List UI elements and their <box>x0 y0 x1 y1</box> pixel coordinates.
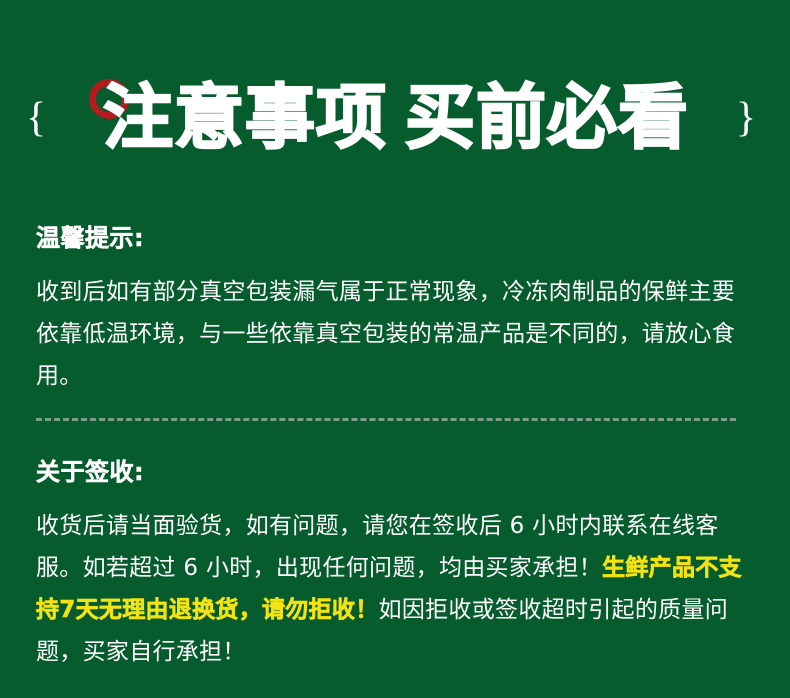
section-body-about-receipt: 收货后请当面验货，如有问题，请您在签收后 6 小时内联系在线客服。如若超过 6 … <box>36 505 752 673</box>
page-title-main: 注意事项 <box>103 76 387 158</box>
right-brace-decoration: } <box>736 97 756 139</box>
left-brace-decoration: { <box>26 97 46 139</box>
section-body-warm-tips: 收到后如有部分真空包装漏气属于正常现象，冷冻肉制品的保鲜主要依靠低温环境，与一些… <box>36 271 752 397</box>
page-title: 注意事项买前必看 <box>103 81 689 155</box>
page-title-sub: 买前必看 <box>405 76 689 158</box>
notice-page: { 注意事项买前必看 } 温馨提示: 收到后如有部分真空包装漏气属于正常现象，冷… <box>0 0 790 698</box>
title-banner: { 注意事项买前必看 } <box>0 62 790 174</box>
section-about-receipt: 关于签收: 收货后请当面验货，如有问题，请您在签收后 6 小时内联系在线客服。如… <box>36 452 752 673</box>
section-heading-about-receipt: 关于签收: <box>36 452 752 487</box>
section-warm-tips: 温馨提示: 收到后如有部分真空包装漏气属于正常现象，冷冻肉制品的保鲜主要依靠低温… <box>36 218 752 397</box>
section-heading-warm-tips: 温馨提示: <box>36 218 752 253</box>
section-divider <box>36 418 736 421</box>
